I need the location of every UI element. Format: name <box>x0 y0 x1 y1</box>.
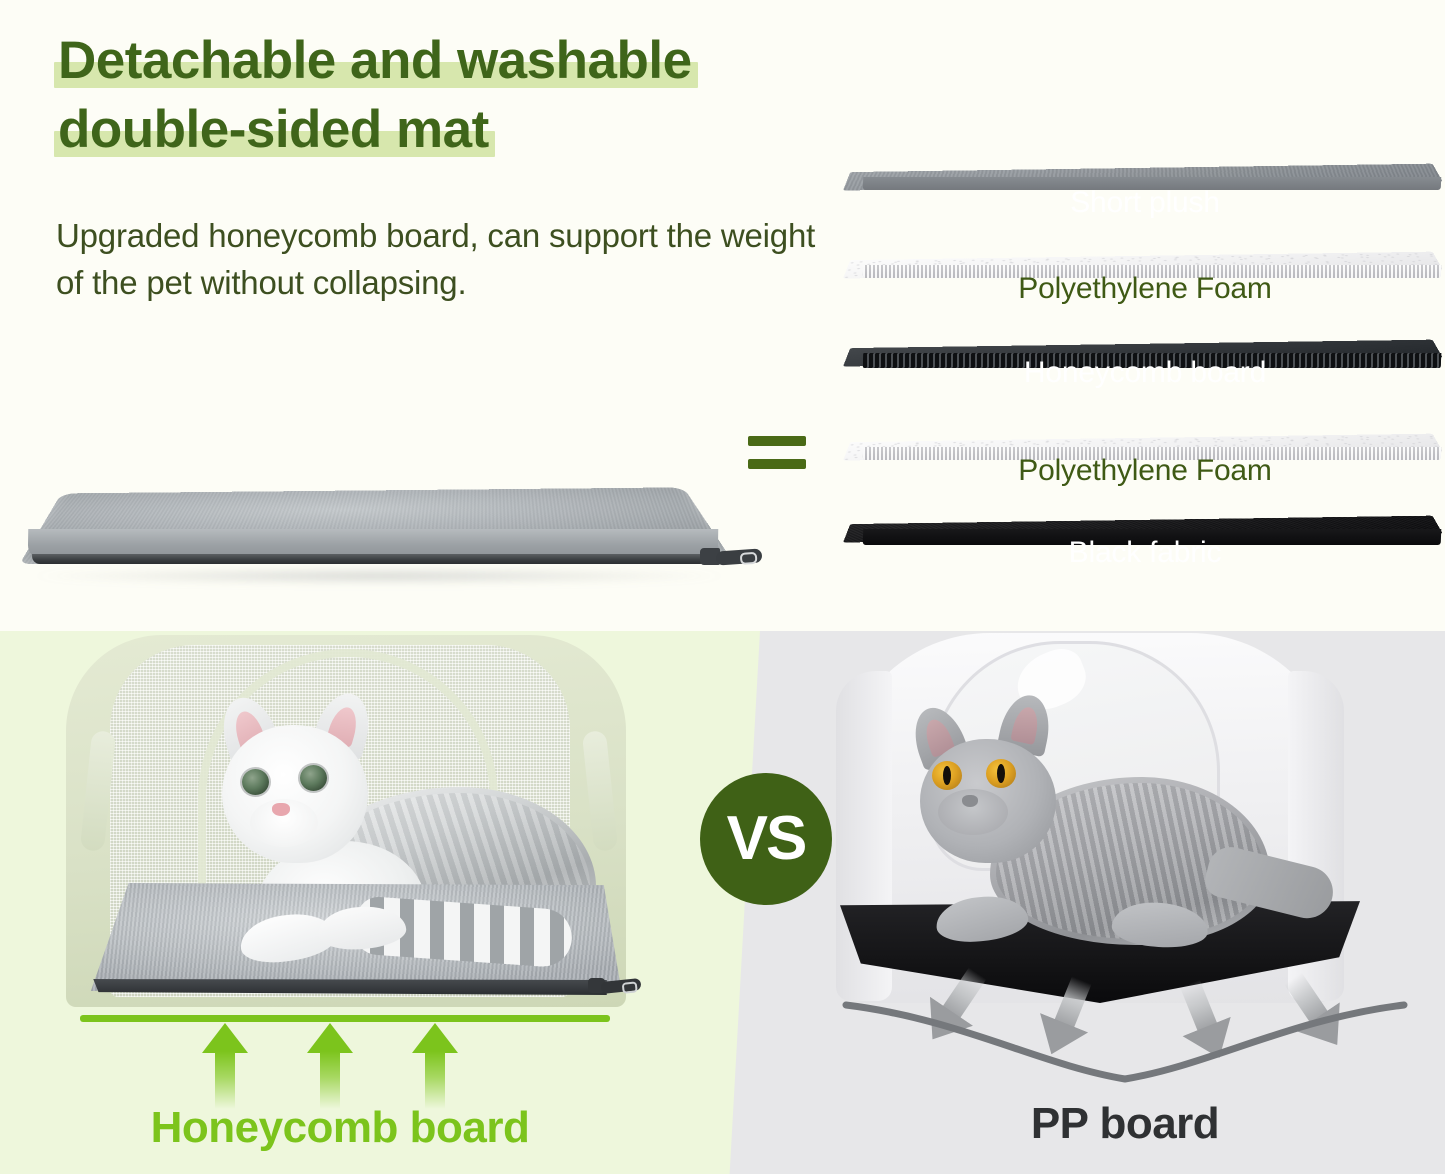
cat-nose <box>272 803 290 816</box>
left-carrier-photo <box>48 631 648 1031</box>
layer-black-fabric: Black fabric <box>845 492 1445 600</box>
mat-zipper-line <box>32 554 708 564</box>
top-section: Detachable and washable double-sided mat… <box>0 0 1445 631</box>
infographic-page: Detachable and washable double-sided mat… <box>0 0 1445 1174</box>
layer-honeycomb-board: Honeycomb board <box>845 316 1445 424</box>
honeycomb-mat-edge <box>88 979 612 995</box>
honeycomb-mat-zipper-icon <box>588 975 642 999</box>
silver-tabby-cat <box>178 691 618 991</box>
title-line-1: Detachable and washable <box>58 34 692 87</box>
title-text-1: Detachable and washable <box>58 31 692 90</box>
cat-eye-right <box>986 759 1016 788</box>
vs-badge: VS <box>700 773 832 905</box>
cat-nose <box>962 795 978 807</box>
up-arrow-3-icon <box>412 1023 458 1109</box>
sagging-curve-icon <box>840 983 1410 1093</box>
title-text-2: double-sided mat <box>58 100 489 159</box>
plush-mat-product-image <box>10 398 770 598</box>
layer-edge-honeycomb-fluted <box>863 353 1442 368</box>
cat-eye-left <box>242 769 269 795</box>
material-layer-stack: Short plush Polyethylene Foam Honeycomb … <box>845 140 1445 600</box>
zipper-pull-icon <box>700 544 762 570</box>
equals-sign-icon <box>748 436 808 476</box>
up-arrow-2-icon <box>307 1023 353 1109</box>
equals-bar-top <box>748 436 806 446</box>
arrow-shaft <box>425 1051 445 1109</box>
arrow-shaft <box>320 1051 340 1109</box>
layer-label-short-plush: Short plush <box>845 186 1445 220</box>
zipper-tab <box>716 548 763 565</box>
mat-drop-shadow <box>34 568 724 584</box>
layer-edge-foam-top <box>863 265 1441 278</box>
layer-edge-black-fabric <box>863 529 1442 545</box>
subtitle-text: Upgraded honeycomb board, can support th… <box>56 213 816 307</box>
equals-bar-bottom <box>748 459 806 469</box>
gray-shorthair-cat <box>880 689 1310 989</box>
layer-edge-short-plush <box>863 177 1441 190</box>
layer-edge-foam-bottom <box>863 447 1441 460</box>
arrow-head <box>202 1023 248 1053</box>
arrow-shaft <box>215 1051 235 1109</box>
heading-block: Detachable and washable double-sided mat <box>58 34 858 172</box>
arrow-head <box>307 1023 353 1053</box>
title-line-2: double-sided mat <box>58 103 489 156</box>
vs-badge-label: VS <box>727 808 806 870</box>
comparison-section: Honeycomb board VS <box>0 631 1445 1174</box>
cat-eye-right <box>300 765 327 791</box>
pp-board-caption: PP board <box>840 1099 1410 1149</box>
up-arrow-1-icon <box>202 1023 248 1109</box>
zipper-tab-left <box>600 978 641 994</box>
honeycomb-board-caption: Honeycomb board <box>60 1103 620 1153</box>
arrow-head <box>412 1023 458 1053</box>
cat-eye-left <box>932 761 962 790</box>
support-line-flat <box>80 1015 610 1022</box>
